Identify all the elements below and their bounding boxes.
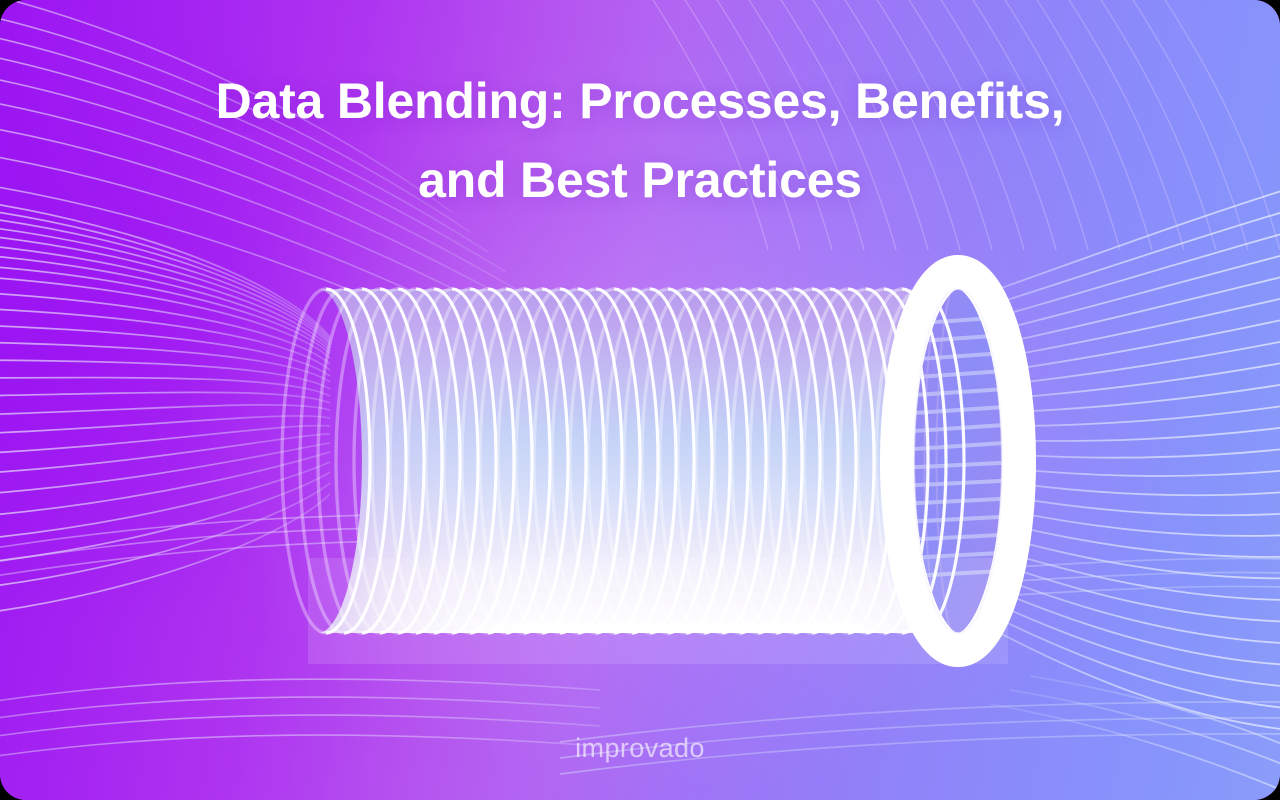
- title-line-2: and Best Practices: [0, 141, 1280, 220]
- cylinder-bottom-bloom: [308, 558, 1008, 664]
- coiled-cylinder-illustration: [308, 258, 1038, 664]
- title-line-1: Data Blending: Processes, Benefits,: [0, 62, 1280, 141]
- page-title: Data Blending: Processes, Benefits, and …: [0, 62, 1280, 220]
- hero-banner: Data Blending: Processes, Benefits, and …: [0, 0, 1280, 800]
- improvado-logo[interactable]: improvado: [0, 733, 1280, 764]
- logo-wordmark: improvado: [575, 733, 705, 763]
